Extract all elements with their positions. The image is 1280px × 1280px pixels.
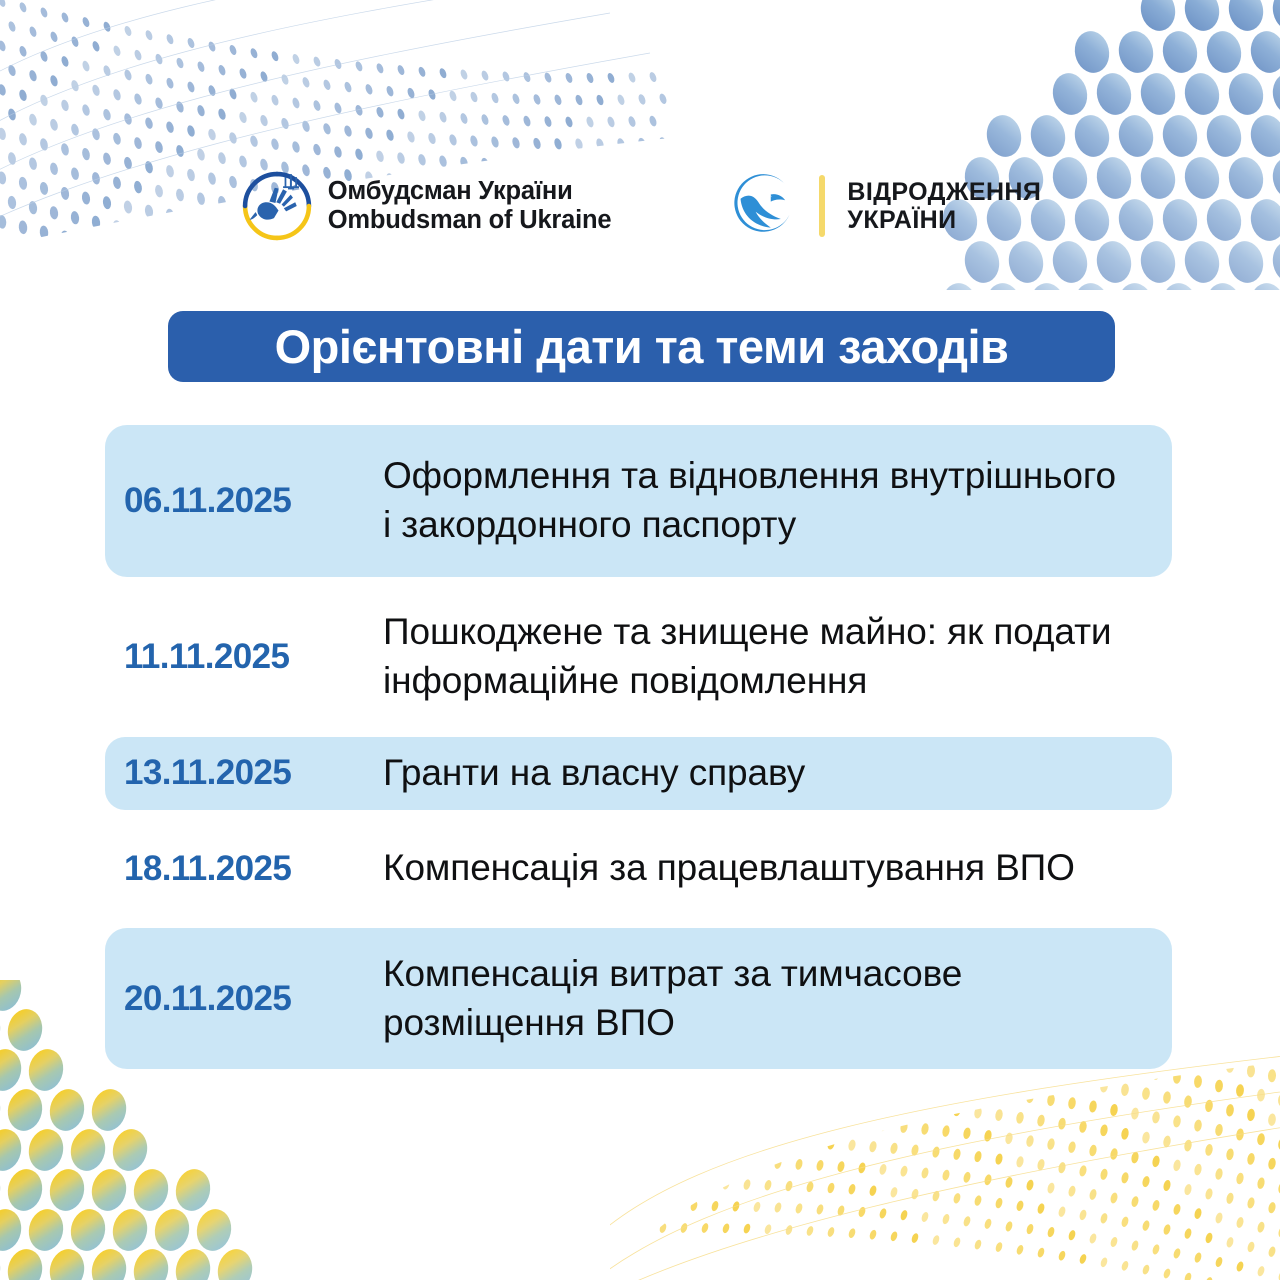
page-title-banner: Орієнтовні дати та теми заходів <box>168 311 1115 382</box>
schedule-row-topic: Гранти на власну справу <box>383 749 1172 798</box>
schedule-row-topic: Оформлення та відновлення внутрішнього і… <box>383 452 1172 550</box>
schedule-row: 13.11.2025 Гранти на власну справу <box>105 737 1172 810</box>
ombudsman-name-en: Ombudsman of Ukraine <box>328 206 612 235</box>
schedule-row-date: 20.11.2025 <box>105 979 383 1019</box>
schedule-row-date: 06.11.2025 <box>105 481 383 521</box>
infographic-page: Омбудсман України Ombudsman of Ukraine В… <box>0 0 1280 1280</box>
logo-vidrodzhennia-ukrainy: ВІДРОДЖЕННЯ УКРАЇНИ <box>729 170 1041 242</box>
schedule-row: 18.11.2025 Компенсація за працевлаштуван… <box>105 810 1172 928</box>
ombudsman-wordmark: Омбудсман України Ombudsman of Ukraine <box>328 177 612 234</box>
schedule-row-topic: Компенсація витрат за тимчасове розміщен… <box>383 950 1172 1048</box>
page-title: Орієнтовні дати та теми заходів <box>275 323 1009 370</box>
schedule-list: 06.11.2025 Оформлення та відновлення вну… <box>0 425 1280 1069</box>
schedule-row-topic: Компенсація за працевлаштування ВПО <box>383 844 1172 893</box>
phoenix-bird-circle-icon <box>729 170 801 242</box>
ombudsman-name-uk: Омбудсман України <box>328 177 612 206</box>
logo-divider <box>819 175 825 237</box>
schedule-row: 11.11.2025 Пошкоджене та знищене майно: … <box>105 577 1172 737</box>
dove-hand-trident-icon <box>239 168 315 244</box>
schedule-row-date: 18.11.2025 <box>105 849 383 889</box>
logo-bar: Омбудсман України Ombudsman of Ukraine В… <box>0 160 1280 252</box>
vidrodzhennia-wordmark: ВІДРОДЖЕННЯ УКРАЇНИ <box>847 178 1041 235</box>
schedule-row: 06.11.2025 Оформлення та відновлення вну… <box>105 425 1172 577</box>
vidrodzhennia-line2: УКРАЇНИ <box>847 206 1041 235</box>
schedule-row-date: 11.11.2025 <box>105 637 383 677</box>
schedule-row: 20.11.2025 Компенсація витрат за тимчасо… <box>105 928 1172 1070</box>
schedule-row-topic: Пошкоджене та знищене майно: як подати і… <box>383 608 1172 706</box>
vidrodzhennia-line1: ВІДРОДЖЕННЯ <box>847 178 1041 207</box>
logo-ombudsman-of-ukraine: Омбудсман України Ombudsman of Ukraine <box>239 168 612 244</box>
schedule-row-date: 13.11.2025 <box>105 753 383 793</box>
